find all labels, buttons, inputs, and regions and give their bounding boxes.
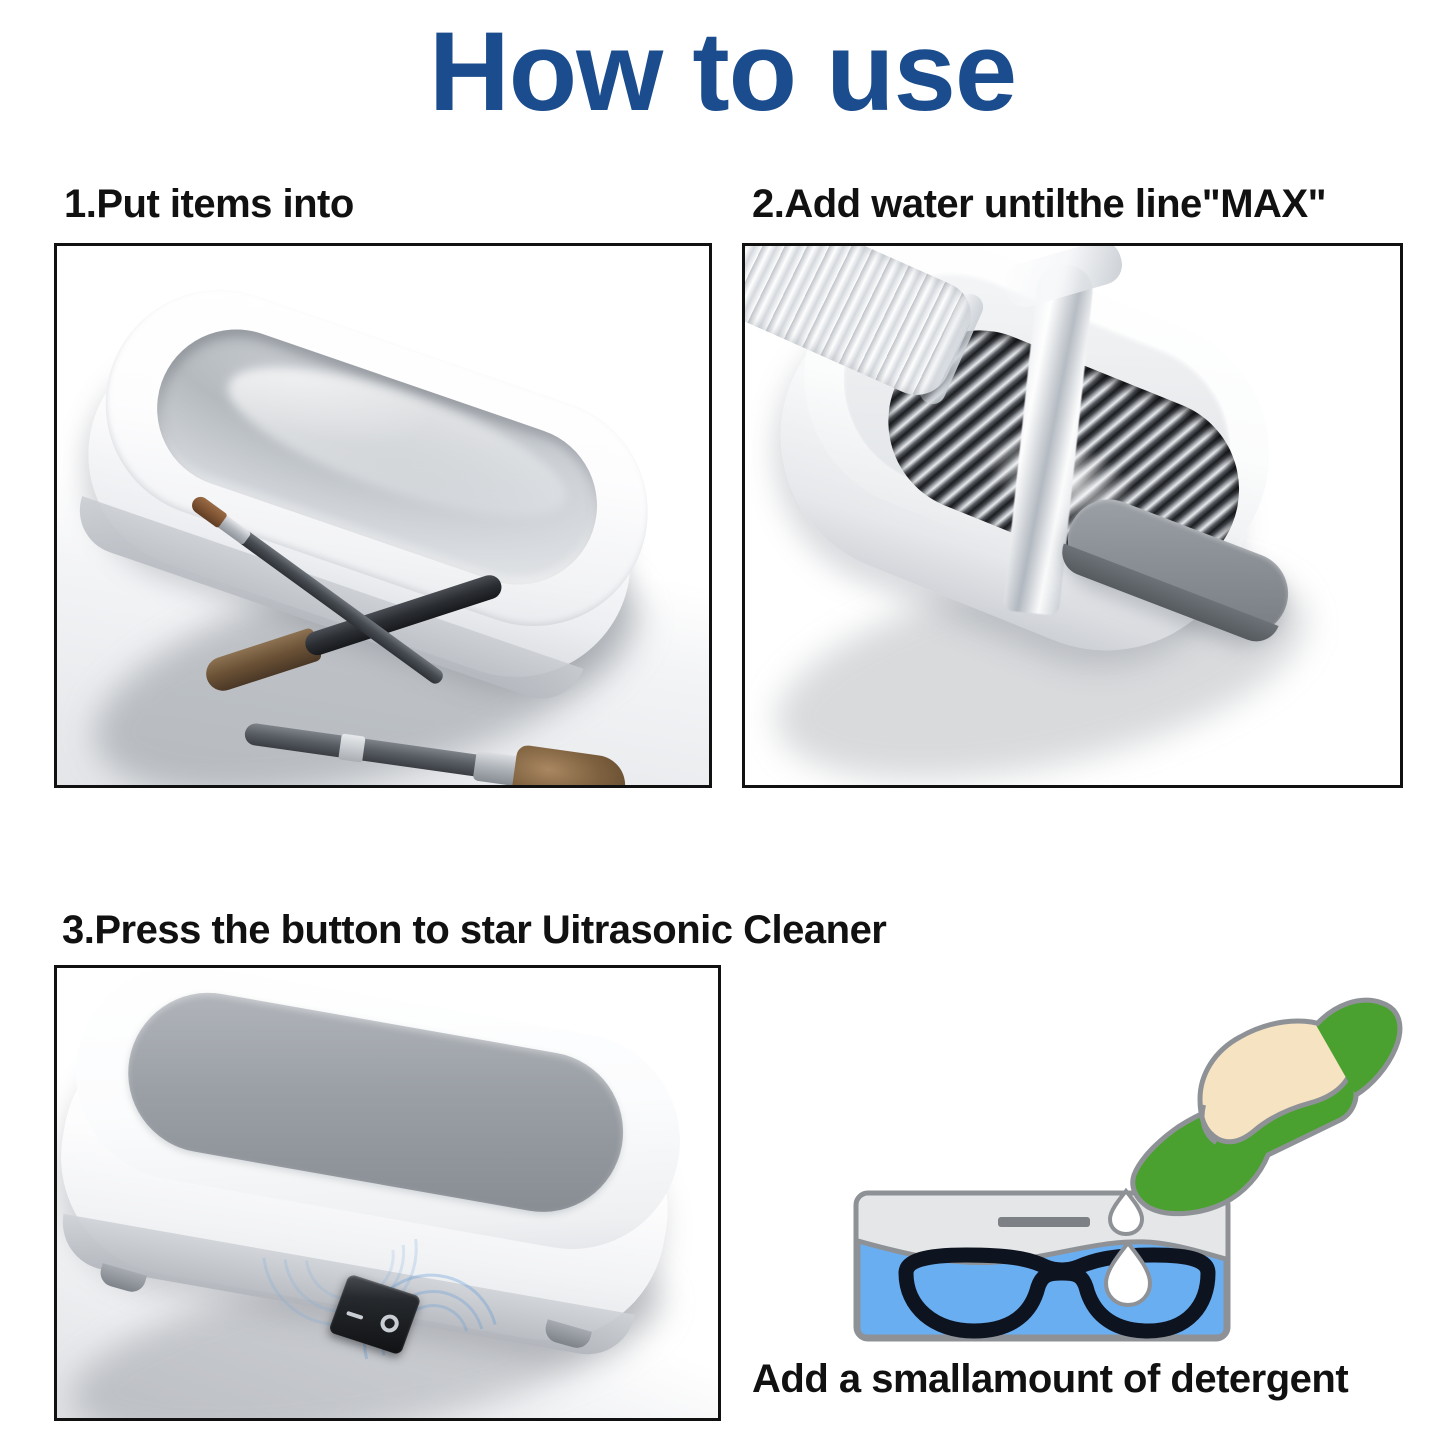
step-3-image-panel (54, 965, 721, 1421)
pouring-water-photo (745, 246, 1400, 785)
step-2-image-panel (742, 243, 1403, 788)
step-3-caption: 3.Press the button to star Uitrasonic Cl… (62, 908, 886, 953)
switch-circle-icon (378, 1312, 401, 1334)
brush-handle-band (338, 733, 365, 762)
switch-minus-icon (346, 1311, 364, 1320)
cleaner-running-photo (57, 968, 718, 1418)
page-title: How to use (0, 16, 1445, 128)
step-4-caption: Add a smallamount of detergent (752, 1357, 1348, 1402)
step-2-caption: 2.Add water untilthe line"MAX" (752, 182, 1326, 227)
glasses-hinge-right (1199, 1260, 1213, 1274)
max-line-mark (998, 1217, 1090, 1227)
step-1-image-panel (54, 243, 712, 788)
glasses-hinge-left (901, 1260, 915, 1274)
detergent-illustration (848, 975, 1408, 1347)
step-1-caption: 1.Put items into (64, 182, 354, 227)
open-cleaner-with-brushes-photo (57, 246, 709, 785)
